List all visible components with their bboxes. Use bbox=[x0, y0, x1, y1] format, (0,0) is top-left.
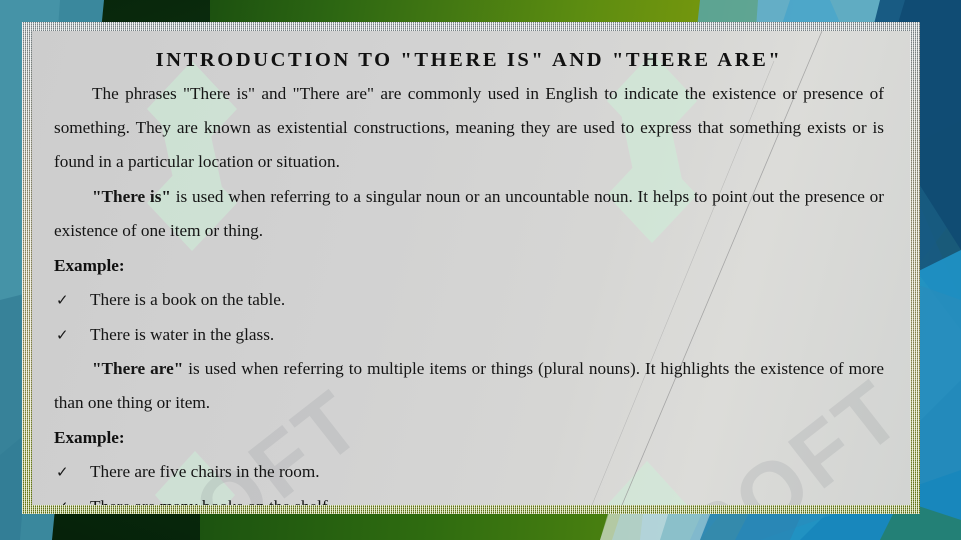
list-item-label: There are many books on the shelf. bbox=[90, 497, 332, 505]
list-item: ✓ There is a book on the table. bbox=[54, 283, 884, 317]
there-is-examples-list: ✓ There is a book on the table. ✓ There … bbox=[54, 283, 884, 352]
slide-text-content: INTRODUCTION TO "THERE IS" AND "THERE AR… bbox=[32, 31, 910, 505]
content-frame: SOFT SOFT INTRODUCTION TO "THERE IS" AND… bbox=[22, 22, 920, 514]
there-are-paragraph: "There are" is used when referring to mu… bbox=[54, 352, 884, 421]
there-are-examples-list: ✓ There are five chairs in the room. ✓ T… bbox=[54, 455, 884, 505]
list-item: ✓ There are many books on the shelf. bbox=[54, 490, 884, 505]
intro-paragraph-text: The phrases "There is" and "There are" a… bbox=[54, 84, 884, 172]
check-icon: ✓ bbox=[56, 318, 69, 352]
list-item-label: There is water in the glass. bbox=[90, 325, 274, 344]
list-item: ✓ There is water in the glass. bbox=[54, 318, 884, 352]
check-icon: ✓ bbox=[56, 283, 69, 317]
list-item-label: There are five chairs in the room. bbox=[90, 462, 320, 481]
presentation-slide: SOFT SOFT INTRODUCTION TO "THERE IS" AND… bbox=[0, 0, 961, 540]
there-is-term: "There is" bbox=[92, 187, 171, 206]
list-item-label: There is a book on the table. bbox=[90, 290, 285, 309]
page-title: INTRODUCTION TO "THERE IS" AND "THERE AR… bbox=[54, 47, 884, 75]
example-label-two: Example: bbox=[54, 421, 884, 455]
content-panel: SOFT SOFT INTRODUCTION TO "THERE IS" AND… bbox=[32, 31, 910, 505]
intro-paragraph: The phrases "There is" and "There are" a… bbox=[54, 77, 884, 180]
there-are-term: "There are" bbox=[92, 359, 183, 378]
there-is-paragraph: "There is" is used when referring to a s… bbox=[54, 180, 884, 249]
list-item: ✓ There are five chairs in the room. bbox=[54, 455, 884, 489]
check-icon: ✓ bbox=[56, 490, 69, 505]
there-is-description: is used when referring to a singular nou… bbox=[54, 187, 884, 240]
example-label-one: Example: bbox=[54, 249, 884, 283]
check-icon: ✓ bbox=[56, 455, 69, 489]
